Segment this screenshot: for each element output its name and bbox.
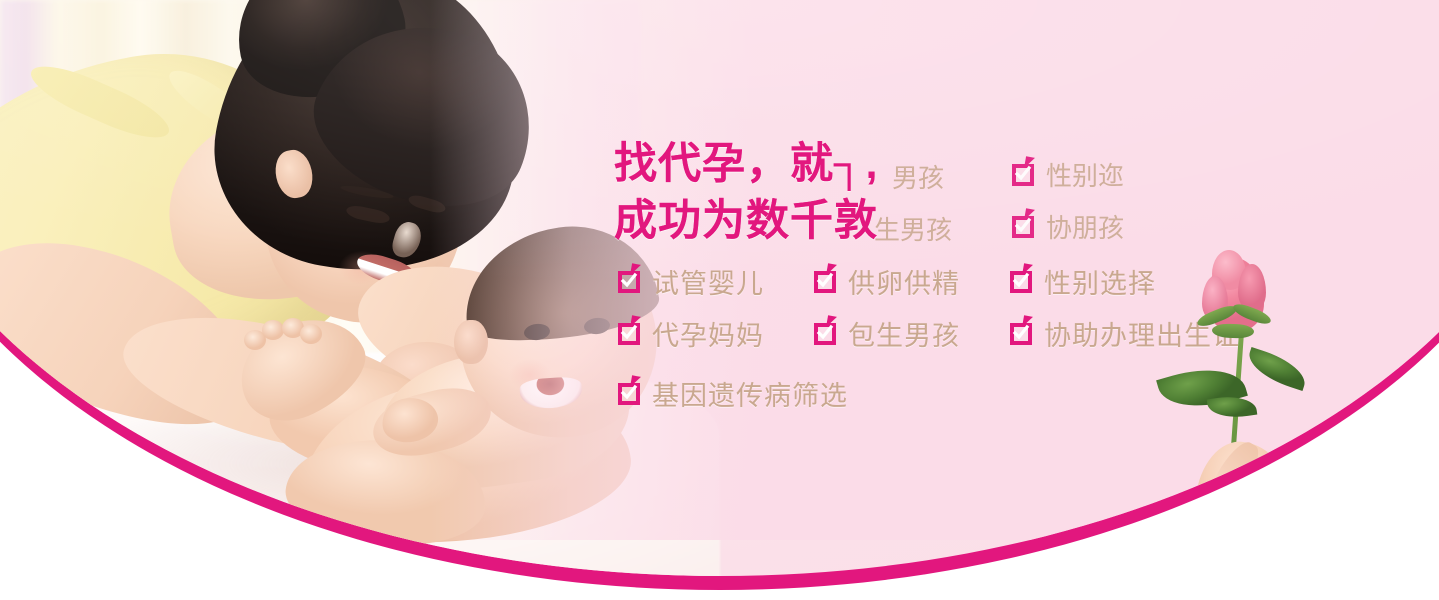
checkbox-checked-icon: [618, 269, 644, 295]
promo-banner: 男孩 生男孩 性别迩 协朋孩 找代孕，就┐, 成功为数千敦: [0, 0, 1439, 600]
service-item[interactable]: 供卵供精: [814, 262, 1010, 301]
service-row: 基因遗传病筛选: [618, 374, 1240, 426]
service-item-label: 包生男孩: [848, 314, 960, 353]
service-row: 代孕妈妈 包生男孩 协助办理出生证: [618, 314, 1240, 366]
service-item-label: 供卵供精: [848, 262, 960, 301]
ghost-row-label-1: 男孩: [892, 158, 944, 195]
service-item[interactable]: 代孕妈妈: [618, 314, 814, 353]
checkbox-checked-icon: [1012, 214, 1038, 240]
headline-overlap-clip: 找代孕，就┐, 成功为数千敦: [614, 136, 890, 256]
headline-overlay: 找代孕，就┐, 成功为数千敦: [614, 136, 878, 250]
service-item[interactable]: 基因遗传病筛选: [618, 374, 848, 413]
service-item-label: 性别选择: [1044, 262, 1156, 301]
service-row: 试管婴儿 供卵供精 性别选择: [618, 262, 1240, 314]
checkbox-checked-icon: [1012, 162, 1038, 188]
headline-line-2-overlay: 成功为数千敦: [614, 193, 878, 250]
ghost-row-4: 协朋孩: [1012, 208, 1124, 245]
checkbox-checked-icon: [814, 321, 840, 347]
rose-leaf: [1244, 347, 1311, 391]
checkbox-checked-icon: [618, 381, 644, 407]
checkbox-checked-icon: [618, 321, 644, 347]
headline-line-1-overlay: 找代孕，就┐,: [614, 136, 878, 193]
service-item[interactable]: 性别选择: [1010, 262, 1156, 301]
rose-and-hand-photo: [1150, 246, 1350, 576]
service-list: 试管婴儿 供卵供精 性别选择: [618, 262, 1240, 426]
checkbox-checked-icon: [814, 269, 840, 295]
ghost-row-3: 性别迩: [1012, 156, 1124, 193]
service-item-label: 试管婴儿: [652, 262, 764, 301]
ghost-row-label-4: 协朋孩: [1046, 208, 1124, 245]
service-item-label: 代孕妈妈: [652, 314, 764, 353]
checkbox-checked-icon: [1010, 321, 1036, 347]
ghost-row-label-3: 性别迩: [1046, 156, 1124, 193]
checkbox-checked-icon: [1010, 269, 1036, 295]
banner-ellipse-body: 男孩 生男孩 性别迩 协朋孩 找代孕，就┐, 成功为数千敦: [0, 0, 1439, 576]
service-item[interactable]: 试管婴儿: [618, 262, 814, 301]
service-item[interactable]: 包生男孩: [814, 314, 1010, 353]
service-item-label: 基因遗传病筛选: [652, 374, 848, 413]
